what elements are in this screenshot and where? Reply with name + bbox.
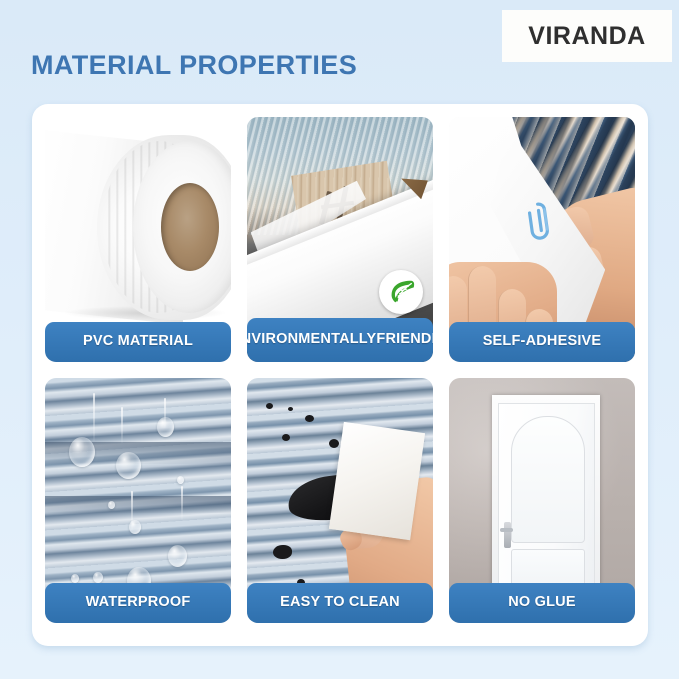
feature-label-environmentally-friendly: ENVIRONMENTALLY FRIENDLY <box>247 318 433 362</box>
label-line-2: FRIENDLY <box>376 332 433 347</box>
brand-name: VIRANDA <box>528 22 645 51</box>
feature-label-self-adhesive: SELF-ADHESIVE <box>449 322 635 362</box>
cleaning-cloth <box>329 422 425 540</box>
brand-logo: VIRANDA <box>502 10 672 62</box>
feature-label-pvc-material: PVC MATERIAL <box>45 322 231 362</box>
page-title: MATERIAL PROPERTIES <box>31 50 357 81</box>
label-line-1: ENVIRONMENTALLY <box>247 332 376 347</box>
feature-label-no-glue: NO GLUE <box>449 583 635 623</box>
features-grid: PVC MATERIAL <box>45 117 635 633</box>
feature-cell-waterproof[interactable]: WATERPROOF <box>45 378 231 623</box>
feature-cell-environmentally-friendly[interactable]: ENVIRONMENTALLY FRIENDLY <box>247 117 433 362</box>
feature-cell-self-adhesive[interactable]: SELF-ADHESIVE <box>449 117 635 362</box>
feature-cell-pvc-material[interactable]: PVC MATERIAL <box>45 117 231 362</box>
leaf-icon <box>379 270 423 314</box>
promo-infographic: VIRANDA MATERIAL PROPERTIES PVC MATERIAL <box>0 0 679 679</box>
feature-cell-no-glue[interactable]: NO GLUE <box>449 378 635 623</box>
feature-label-waterproof: WATERPROOF <box>45 583 231 623</box>
feature-cell-easy-to-clean[interactable]: EASY TO CLEAN <box>247 378 433 623</box>
feature-label-easy-to-clean: EASY TO CLEAN <box>247 583 433 623</box>
